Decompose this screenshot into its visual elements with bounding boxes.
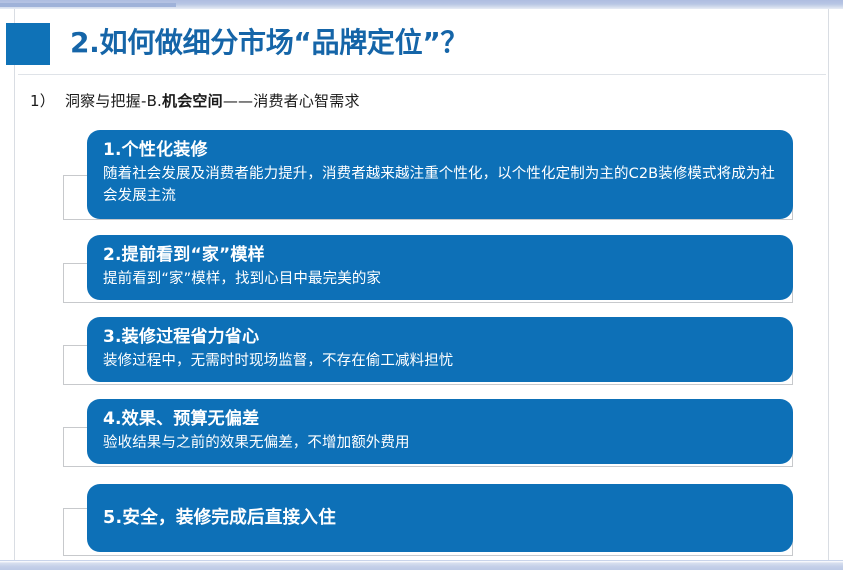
card-list: 1.个性化装修 随着社会发展及消费者能力提升，消费者越来越注重个性化，以个性化定…	[0, 0, 843, 570]
card-title-1: 1.个性化装修	[103, 139, 777, 162]
slide-canvas: 2.如何做细分市场“品牌定位”？ 1）洞察与把握-B.机会空间——消费者心智需求…	[0, 0, 843, 570]
card-panel-5[interactable]: 5.安全，装修完成后直接入住	[87, 484, 793, 552]
card-panel-2[interactable]: 2.提前看到“家”模样 提前看到“家”模样，找到心目中最完美的家	[87, 235, 793, 300]
viewer-bottom-strip	[0, 561, 843, 570]
card-panel-1[interactable]: 1.个性化装修 随着社会发展及消费者能力提升，消费者越来越注重个性化，以个性化定…	[87, 130, 793, 219]
card-body-1: 随着社会发展及消费者能力提升，消费者越来越注重个性化，以个性化定制为主的C2B装…	[103, 163, 777, 207]
card-title-2: 2.提前看到“家”模样	[103, 244, 777, 267]
card-body-2: 提前看到“家”模样，找到心目中最完美的家	[103, 268, 777, 290]
card-title-3: 3.装修过程省力省心	[103, 326, 777, 349]
card-panel-3[interactable]: 3.装修过程省力省心 装修过程中，无需时时现场监督，不存在偷工减料担忧	[87, 317, 793, 382]
card-body-3: 装修过程中，无需时时现场监督，不存在偷工减料担忧	[103, 350, 777, 372]
card-body-4: 验收结果与之前的效果无偏差，不增加额外费用	[103, 432, 777, 454]
card-title-4: 4.效果、预算无偏差	[103, 408, 777, 431]
card-panel-4[interactable]: 4.效果、预算无偏差 验收结果与之前的效果无偏差，不增加额外费用	[87, 399, 793, 464]
card-title-5: 5.安全，装修完成后直接入住	[103, 507, 336, 530]
